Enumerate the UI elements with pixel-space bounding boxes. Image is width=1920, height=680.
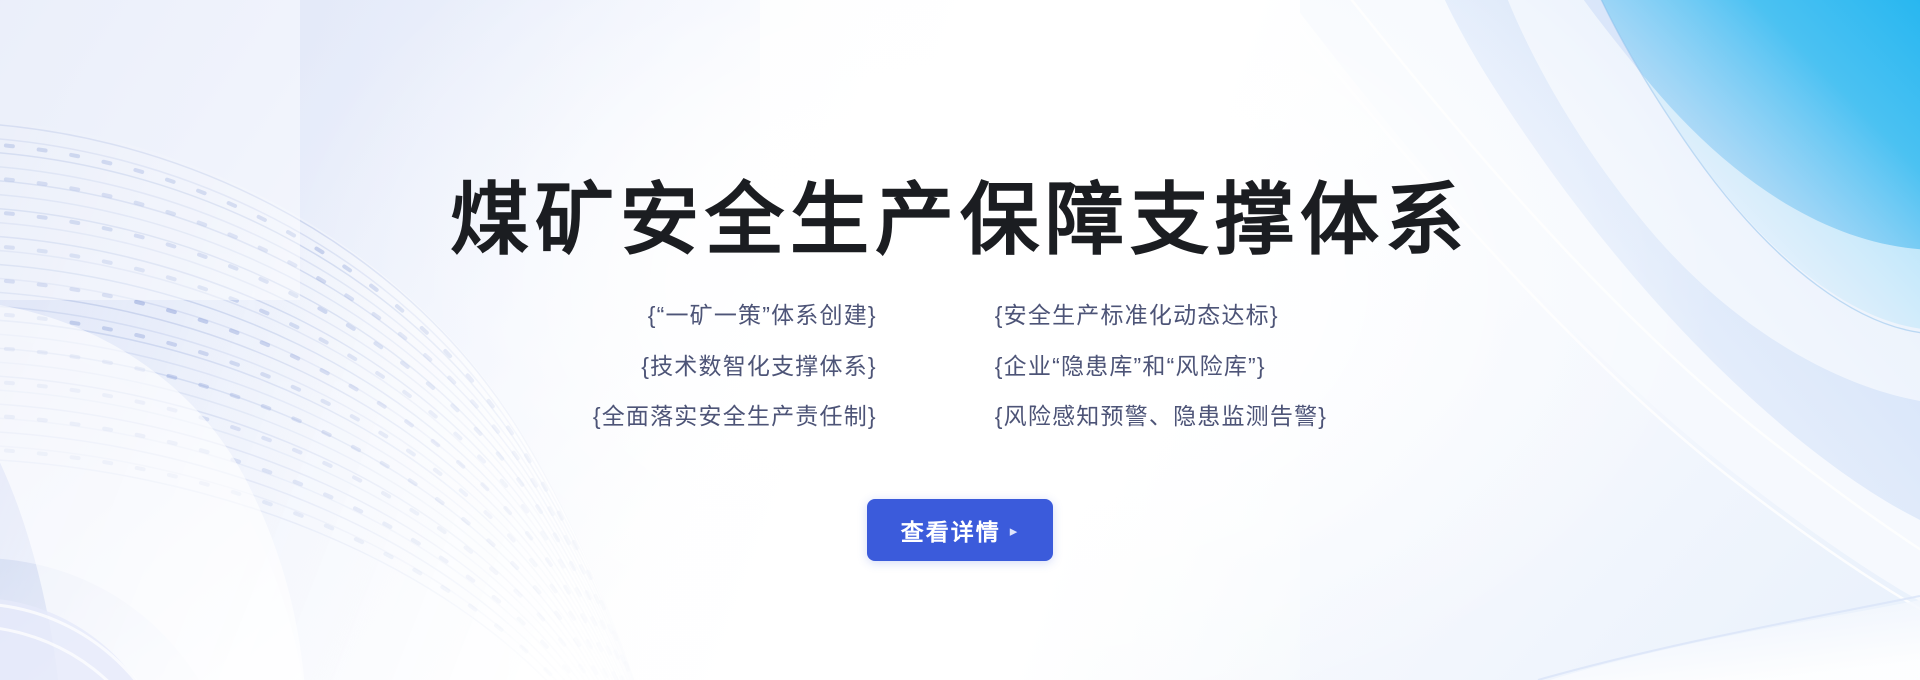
chevron-right-icon: ▸ [1010,524,1020,539]
hero-banner: 煤矿安全生产保障支撑体系 {“一矿一策”体系创建} {技术数智化支撑体系} {全… [0,0,1920,680]
subtitle-item: {技术数智化支撑体系} [641,347,877,386]
subtitle-item: {风险感知预警、隐患监测告警} [995,397,1327,436]
banner-content: 煤矿安全生产保障支撑体系 {“一矿一策”体系创建} {技术数智化支撑体系} {全… [0,0,1920,680]
subtitle-column-left: {“一矿一策”体系创建} {技术数智化支撑体系} {全面落实安全生产责任制} [593,296,877,436]
view-details-label: 查看详情 [901,513,1001,547]
view-details-button[interactable]: 查看详情 ▸ [867,499,1054,561]
cta-container: 查看详情 ▸ [0,499,1920,561]
subtitle-item: {“一矿一策”体系创建} [648,296,877,335]
subtitle-columns: {“一矿一策”体系创建} {技术数智化支撑体系} {全面落实安全生产责任制} {… [593,296,1327,436]
subtitle-column-right: {安全生产标准化动态达标} {企业“隐患库”和“风险库”} {风险感知预警、隐患… [995,296,1327,436]
page-title: 煤矿安全生产保障支撑体系 [0,179,1920,262]
subtitle-item: {安全生产标准化动态达标} [995,296,1279,335]
subtitle-item: {企业“隐患库”和“风险库”} [995,347,1266,386]
subtitle-item: {全面落实安全生产责任制} [593,397,877,436]
